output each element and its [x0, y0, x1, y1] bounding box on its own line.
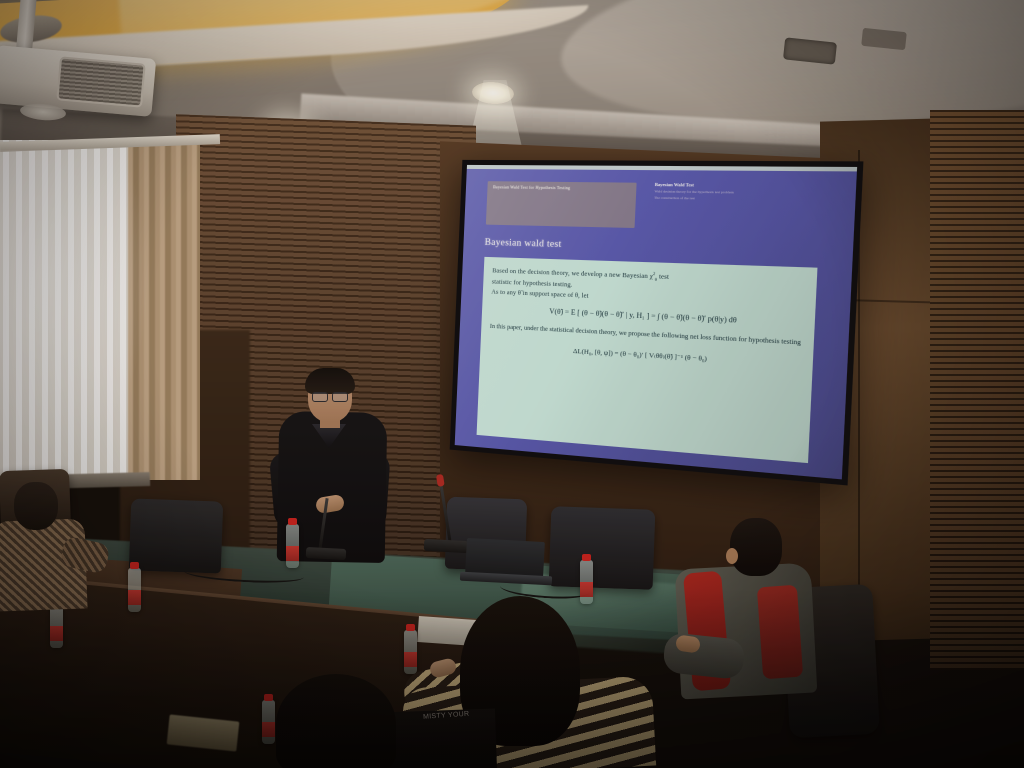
water-bottle: [580, 560, 593, 604]
para1-text-d: As to any θ̃ in support space of θ, let: [491, 288, 588, 299]
window-daylight-glow: [0, 150, 150, 470]
microphone-base: [424, 539, 469, 553]
para1-text-b: test: [657, 273, 669, 281]
presenter-hair: [305, 368, 355, 394]
attendee-dark-hair: [276, 674, 396, 768]
attendee-left-head: [14, 482, 58, 530]
slide-body: Based on the decision theory, we develop…: [476, 257, 818, 463]
wall-slat-far-right: [930, 110, 1024, 670]
slide-header-right-bullet-2: The construction of the test: [654, 195, 825, 203]
attendee-right-head: [730, 518, 782, 576]
water-bottle: [404, 630, 417, 674]
projection-screen-frame: Bayesian Wald Test for Hypothesis Testin…: [450, 160, 864, 486]
water-bottle: [50, 604, 63, 648]
slide-header-bar: Bayesian Wald Test for Hypothesis Testin…: [485, 177, 830, 241]
presentation-slide: Bayesian Wald Test for Hypothesis Testin…: [455, 169, 857, 479]
projection-screen: Bayesian Wald Test for Hypothesis Testin…: [455, 165, 857, 479]
chi-superscript: 2: [653, 272, 655, 276]
office-chair: [129, 498, 223, 573]
para1-text-c: statistic for hypothesis testing.: [492, 278, 573, 288]
attendee-right-arm: [662, 632, 746, 680]
attendee-right-ear: [726, 548, 738, 564]
slide-paragraph-1: Based on the decision theory, we develop…: [491, 265, 807, 311]
slide-header-left-box: Bayesian Wald Test for Hypothesis Testin…: [485, 181, 636, 228]
attendee-right-jacket-red-back: [757, 585, 803, 680]
microphone-base: [306, 547, 347, 560]
water-bottle: [262, 700, 275, 744]
slide-title: Bayesian wald test: [484, 237, 561, 249]
office-chair: [549, 506, 656, 590]
conference-room-scene: Bayesian Wald Test for Hypothesis Testin…: [0, 0, 1024, 768]
projector-grill: [56, 56, 146, 107]
water-bottle: [128, 568, 141, 612]
slide-header-left-title: Bayesian Wald Test for Hypothesis Testin…: [493, 184, 630, 191]
jacket-print-text: MISTY YOUR: [423, 710, 477, 746]
slide-header-right-box: Bayesian Wald Test Wald decision theory …: [648, 180, 830, 233]
water-bottle: [286, 524, 299, 568]
eyeglasses-icon: [312, 392, 348, 400]
